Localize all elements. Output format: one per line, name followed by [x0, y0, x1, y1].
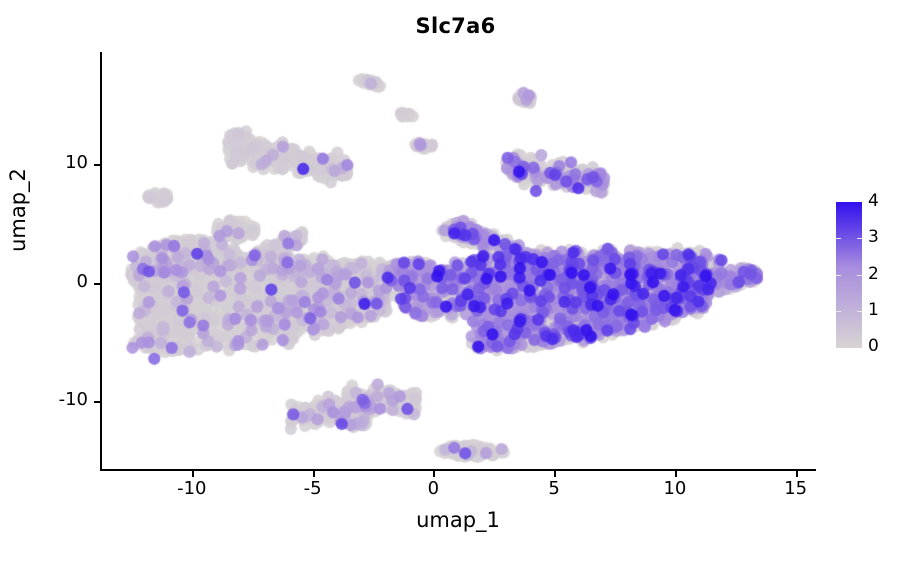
colorbar-tick-mark — [857, 275, 862, 276]
colorbar-tick-label: 1 — [868, 300, 879, 320]
x-tick-mark — [554, 471, 556, 477]
colorbar-tick-label: 2 — [868, 264, 879, 284]
colorbar-tick-mark — [857, 238, 862, 239]
y-axis-spine — [100, 52, 102, 471]
colorbar-tick-mark — [836, 275, 841, 276]
y-tick-label: 0 — [30, 271, 88, 292]
y-tick-mark — [94, 401, 100, 403]
page-title: Slc7a6 — [0, 14, 911, 38]
x-tick-mark — [313, 471, 315, 477]
colorbar-tick-label: 3 — [868, 227, 879, 247]
colorbar-tick-mark — [836, 311, 841, 312]
colorbar-tick-label: 4 — [868, 191, 879, 211]
x-tick-label: 15 — [766, 478, 826, 499]
x-tick-label: -5 — [283, 478, 343, 499]
x-tick-mark — [796, 471, 798, 477]
y-tick-mark — [94, 164, 100, 166]
x-tick-label: 5 — [524, 478, 584, 499]
x-axis-label: umap_1 — [100, 508, 816, 532]
y-tick-label: 10 — [30, 152, 88, 173]
x-tick-label: 0 — [403, 478, 463, 499]
x-tick-mark — [192, 471, 194, 477]
x-tick-mark — [433, 471, 435, 477]
colorbar-tick-label: 0 — [868, 336, 879, 356]
y-tick-mark — [94, 283, 100, 285]
y-axis-label: umap_2 — [6, 130, 30, 290]
scatter-plot-canvas — [100, 52, 815, 470]
colorbar-tick-mark — [857, 311, 862, 312]
y-tick-label: -10 — [30, 389, 88, 410]
x-axis-spine — [100, 469, 816, 471]
umap-feature-plot-figure: Slc7a6 -10-5051015 -10010 umap_1 umap_2 … — [0, 0, 911, 562]
x-tick-label: -10 — [162, 478, 222, 499]
x-tick-label: 10 — [645, 478, 705, 499]
x-tick-mark — [675, 471, 677, 477]
colorbar-tick-mark — [836, 238, 841, 239]
